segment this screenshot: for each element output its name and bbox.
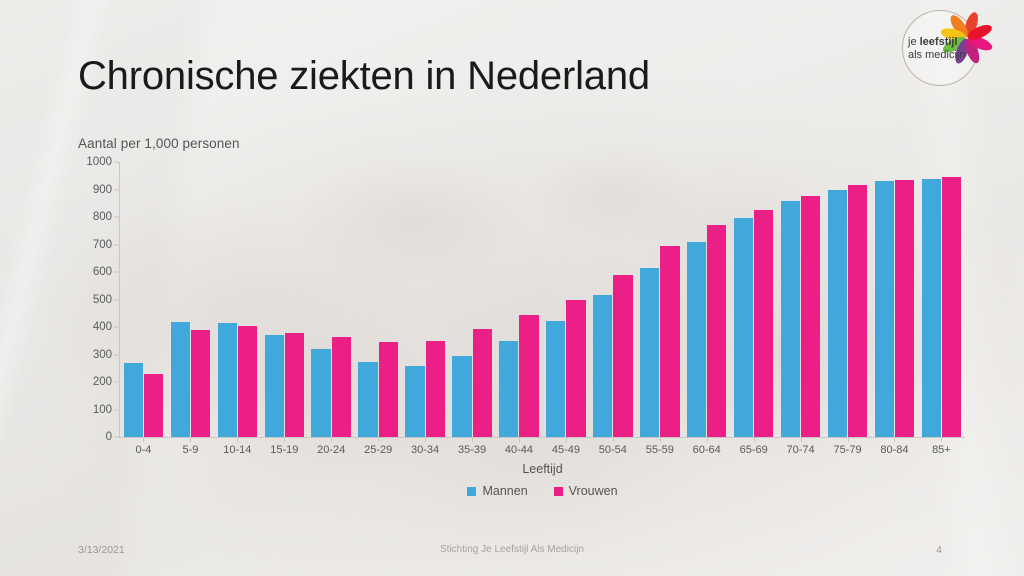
legend-swatch-icon [467,487,476,496]
x-axis-tick-label: 60-64 [683,444,730,456]
bar-mannen [734,218,753,437]
x-axis-tick [660,437,661,442]
bar-group [449,162,496,437]
bar-group [402,162,449,437]
bar-vrouwen [942,177,961,437]
bar-vrouwen [285,333,304,438]
bar-mannen [875,181,894,437]
y-axis-tick-label: 700 [78,239,112,251]
y-axis-tick-label: 800 [78,211,112,223]
bar-group [636,162,683,437]
bar-group [120,162,167,437]
logo-text-leefstijl: leefstijl [920,36,958,48]
y-axis-tick [114,162,119,163]
x-axis-line [119,437,965,438]
bar-groups [120,162,965,437]
x-axis-tick [143,437,144,442]
bar-mannen [311,349,330,437]
x-axis-tick [801,437,802,442]
bar-vrouwen [379,342,398,437]
plot-area: 01002003004005006007008009001000 0-45-91… [78,162,970,474]
x-axis-tick-label: 15-19 [261,444,308,456]
x-axis-tick [941,437,942,442]
x-axis-tick [190,437,191,442]
bar-mannen [452,356,471,437]
x-axis-tick [284,437,285,442]
x-axis-tick-label: 55-59 [636,444,683,456]
bar-mannen [593,295,612,437]
x-axis-tick [425,437,426,442]
bar-vrouwen [848,185,867,437]
bar-vrouwen [473,329,492,437]
bar-group [683,162,730,437]
bar-group [918,162,965,437]
page-title: Chronische ziekten in Nederland [78,54,650,99]
legend-label: Mannen [482,484,527,498]
bar-mannen [405,366,424,438]
bar-vrouwen [144,374,163,437]
bar-mannen [781,201,800,437]
bar-mannen [499,341,518,437]
bar-vrouwen [566,300,585,438]
bar-group [308,162,355,437]
logo-text-als-medicijn: als medicijn [908,49,965,61]
x-axis-tick-label: 50-54 [589,444,636,456]
bar-group [730,162,777,437]
bar-vrouwen [332,337,351,437]
x-axis-tick-label: 45-49 [542,444,589,456]
y-axis-tick [114,409,119,410]
y-axis-labels: 01002003004005006007008009001000 [78,162,112,437]
x-axis-title: Leeftijd [120,462,965,476]
x-axis-tick-label: 10-14 [214,444,261,456]
x-axis-tick-label: 80-84 [871,444,918,456]
x-axis-tick-label: 5-9 [167,444,214,456]
bar-mannen [265,335,284,437]
x-axis-tick [754,437,755,442]
brand-logo: je leefstijl als medicijn [894,8,998,88]
x-axis-labels: 0-45-910-1415-1920-2425-2930-3435-3940-4… [120,444,965,456]
y-axis-tick-label: 900 [78,184,112,196]
legend-label: Vrouwen [569,484,618,498]
footer-organization: Stichting Je Leefstijl Als Medicijn [0,544,1024,555]
bar-vrouwen [895,180,914,437]
y-axis-tick [114,327,119,328]
bar-vrouwen [613,275,632,437]
x-axis-tick-label: 25-29 [355,444,402,456]
x-axis-tick-label: 65-69 [730,444,777,456]
x-axis-tick-label: 0-4 [120,444,167,456]
footer-page-number: 4 [936,544,942,556]
logo-wordmark: je leefstijl als medicijn [908,36,982,61]
y-axis-tick-label: 300 [78,349,112,361]
bar-mannen [218,323,237,437]
bar-mannen [124,363,143,437]
x-axis-tick [237,437,238,442]
x-axis-tick-label: 30-34 [402,444,449,456]
x-axis-tick [848,437,849,442]
y-axis-tick-label: 1000 [78,156,112,168]
bar-group [589,162,636,437]
legend-item-mannen[interactable]: Mannen [467,484,527,498]
bar-group [871,162,918,437]
x-axis-tick [566,437,567,442]
x-axis-tick [519,437,520,442]
bar-vrouwen [754,210,773,437]
x-axis-tick [707,437,708,442]
y-axis-tick-label: 0 [78,431,112,443]
bar-vrouwen [426,341,445,437]
bar-vrouwen [191,330,210,437]
y-axis-tick [114,437,119,438]
y-axis-tick [114,354,119,355]
x-axis-tick [378,437,379,442]
x-axis-tick-label: 70-74 [777,444,824,456]
y-axis-tick [114,299,119,300]
bar-mannen [358,362,377,437]
bar-mannen [828,190,847,438]
bar-group [167,162,214,437]
x-axis-tick-label: 40-44 [496,444,543,456]
bar-chart: Aantal per 1,000 personen 01002003004005… [0,130,1024,520]
bar-vrouwen [238,326,257,437]
y-axis-tick-label: 100 [78,404,112,416]
slide: Chronische ziekten in Nederland je leefs… [0,0,1024,576]
x-axis-tick [613,437,614,442]
x-axis-tick-label: 35-39 [449,444,496,456]
x-axis-tick-label: 75-79 [824,444,871,456]
legend-swatch-icon [554,487,563,496]
x-axis-tick-label: 20-24 [308,444,355,456]
bar-vrouwen [519,315,538,437]
bar-mannen [922,179,941,438]
bar-vrouwen [801,196,820,437]
y-axis-tick [114,189,119,190]
bar-group [261,162,308,437]
bar-group [824,162,871,437]
bar-vrouwen [707,225,726,437]
x-axis-tick [331,437,332,442]
y-axis-title: Aantal per 1,000 personen [78,136,240,151]
bar-mannen [640,268,659,437]
logo-text-je: je [908,36,920,48]
x-axis-tick-label: 85+ [918,444,965,456]
bar-group [214,162,261,437]
y-axis-tick [114,382,119,383]
y-axis-tick-label: 500 [78,294,112,306]
y-axis-tick [114,217,119,218]
bar-group [777,162,824,437]
bar-vrouwen [660,246,679,437]
bar-mannen [171,322,190,438]
y-axis-tick-label: 400 [78,321,112,333]
y-axis-tick-label: 600 [78,266,112,278]
bar-mannen [687,242,706,437]
x-axis-tick [472,437,473,442]
bar-group [355,162,402,437]
legend-item-vrouwen[interactable]: Vrouwen [554,484,618,498]
slide-footer: 3/13/2021 Stichting Je Leefstijl Als Med… [0,544,1024,564]
y-axis-tick [114,244,119,245]
y-axis-tick-label: 200 [78,376,112,388]
bar-group [496,162,543,437]
x-axis-tick [894,437,895,442]
bar-mannen [546,321,565,437]
y-axis-tick [114,272,119,273]
bar-group [542,162,589,437]
chart-legend: MannenVrouwen [120,484,965,498]
